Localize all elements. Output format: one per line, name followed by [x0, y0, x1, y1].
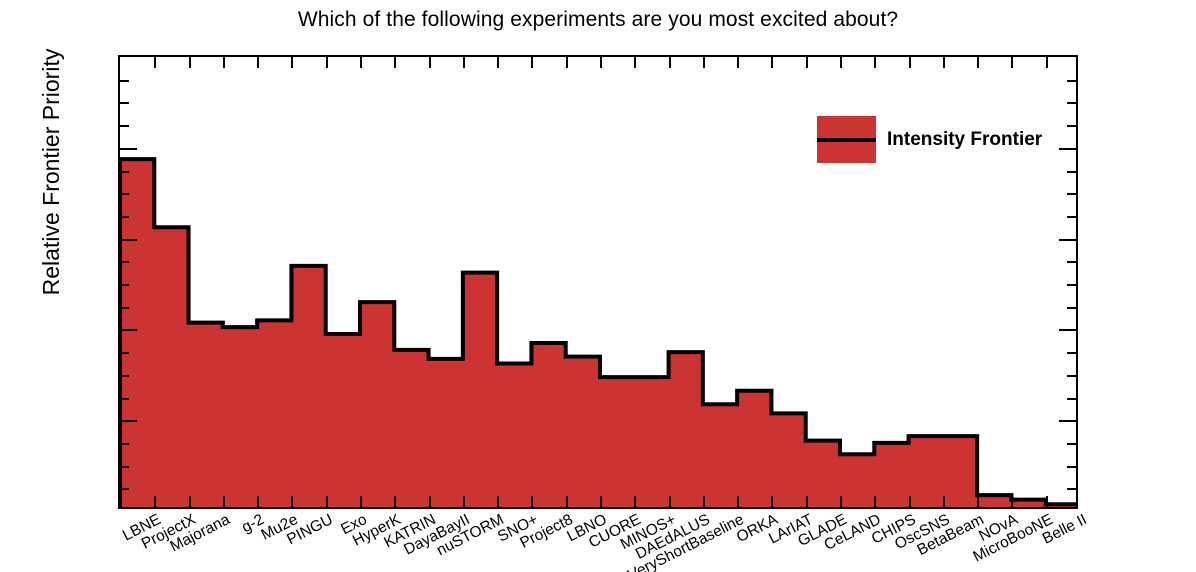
y-axis-tick: [120, 80, 129, 82]
y-axis-tick: [120, 239, 137, 241]
y-axis-tick: [120, 102, 129, 104]
y-axis-tick-right: [1067, 216, 1076, 218]
y-axis-tick-right: [1059, 148, 1076, 150]
y-axis-tick: [120, 375, 129, 377]
y-axis-tick-right: [1067, 102, 1076, 104]
y-axis-tick-right: [1067, 171, 1076, 173]
x-axis-tick-top: [566, 57, 568, 68]
y-axis-title: Relative Frontier Priority: [38, 0, 65, 372]
histogram-outline: [120, 159, 1076, 507]
page-title: Which of the following experiments are y…: [0, 8, 1196, 32]
y-axis-tick: [120, 420, 137, 422]
y-axis-tick: [120, 171, 129, 173]
x-axis-tick-top: [291, 57, 293, 68]
y-axis-tick-right: [1067, 307, 1076, 309]
x-axis-tick-top: [600, 57, 602, 68]
y-axis-tick: [120, 193, 129, 195]
y-axis-tick: [120, 329, 137, 331]
x-axis-tick-top: [1011, 57, 1013, 68]
y-axis-tick-right: [1067, 193, 1076, 195]
y-axis-tick-right: [1067, 352, 1076, 354]
x-axis-tick-labels: LBNEProjectXMajoranag-2Mu2ePINGUExoHyper…: [118, 509, 1118, 572]
y-axis-tick: [120, 261, 129, 263]
x-axis-tick-top: [429, 57, 431, 68]
y-axis-tick-right: [1067, 398, 1076, 400]
y-axis-tick-right: [1067, 443, 1076, 445]
x-axis-tick-top: [394, 57, 396, 68]
x-axis-tick-top: [326, 57, 328, 68]
x-axis-tick: [154, 496, 156, 507]
x-axis-tick-top: [463, 57, 465, 68]
x-axis-tick-top: [497, 57, 499, 68]
x-axis-tick-top: [909, 57, 911, 68]
chart-page: Which of the following experiments are y…: [0, 0, 1196, 572]
y-axis-tick-right: [1067, 125, 1076, 127]
y-axis-tick: [120, 466, 129, 468]
x-axis-tick-top: [154, 57, 156, 68]
y-axis-tick-right: [1067, 466, 1076, 468]
x-axis-tick-top: [943, 57, 945, 68]
y-axis-tick-right: [1067, 284, 1076, 286]
x-axis-tick-top: [737, 57, 739, 68]
x-axis-tick: [394, 496, 396, 507]
x-axis-tick-top: [634, 57, 636, 68]
y-axis-tick: [120, 148, 137, 150]
y-axis-tick: [120, 216, 129, 218]
y-axis-tick-right: [1059, 329, 1076, 331]
y-axis-tick: [120, 307, 129, 309]
x-axis-tick: [291, 496, 293, 507]
x-axis-tick-top: [257, 57, 259, 68]
y-axis-tick-right: [1059, 239, 1076, 241]
x-axis-tick-top: [360, 57, 362, 68]
x-axis-tick-top: [977, 57, 979, 68]
x-axis-tick-top: [1046, 57, 1048, 68]
legend-swatch-line: [817, 138, 876, 142]
y-axis-tick-right: [1059, 420, 1076, 422]
y-axis-tick: [120, 125, 129, 127]
x-axis-tick-top: [703, 57, 705, 68]
x-axis-tick-top: [189, 57, 191, 68]
y-axis-tick: [120, 398, 129, 400]
x-axis-tick-top: [874, 57, 876, 68]
y-axis-tick-right: [1067, 261, 1076, 263]
x-axis-tick-top: [771, 57, 773, 68]
y-axis-tick: [120, 352, 129, 354]
y-axis-tick: [120, 284, 129, 286]
x-axis-tick-top: [223, 57, 225, 68]
y-axis-tick-right: [1067, 488, 1076, 490]
x-axis-tick-top: [531, 57, 533, 68]
legend-swatch-intensity-frontier: [817, 116, 876, 163]
y-axis-tick: [120, 443, 129, 445]
y-axis-tick: [120, 488, 129, 490]
y-axis-tick-right: [1067, 80, 1076, 82]
x-axis-tick-top: [669, 57, 671, 68]
x-axis-tick-top: [840, 57, 842, 68]
legend: Intensity Frontier: [817, 116, 1042, 163]
y-axis-tick-right: [1067, 375, 1076, 377]
x-axis-tick-top: [806, 57, 808, 68]
legend-label-intensity-frontier: Intensity Frontier: [887, 129, 1042, 151]
